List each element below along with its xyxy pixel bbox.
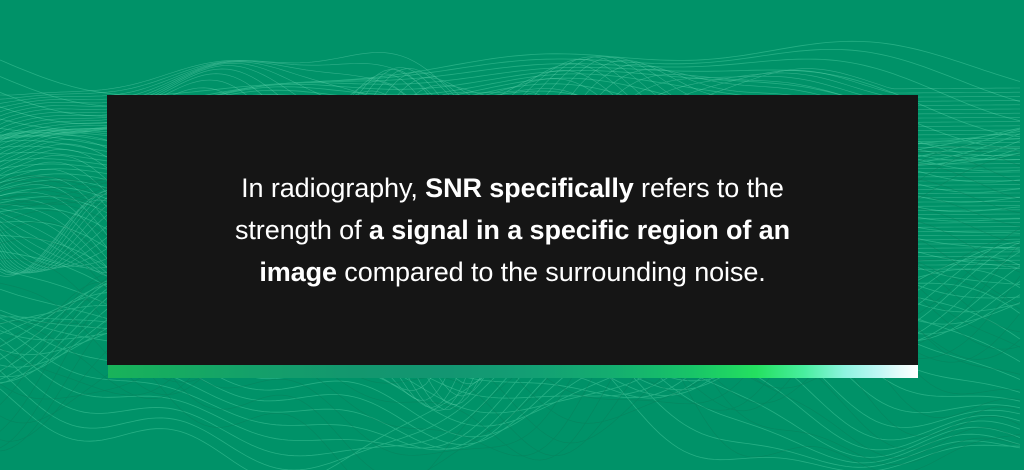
quote-card: In radiography, SNR specifically refers …: [107, 95, 918, 365]
quote-segment-4: compared to the surrounding noise.: [337, 257, 766, 287]
quote-segment-0: In radiography,: [241, 173, 425, 203]
accent-gradient-bar: [108, 365, 918, 378]
quote-segment-1: SNR specifically: [425, 173, 634, 203]
quote-text: In radiography, SNR specifically refers …: [213, 167, 813, 293]
